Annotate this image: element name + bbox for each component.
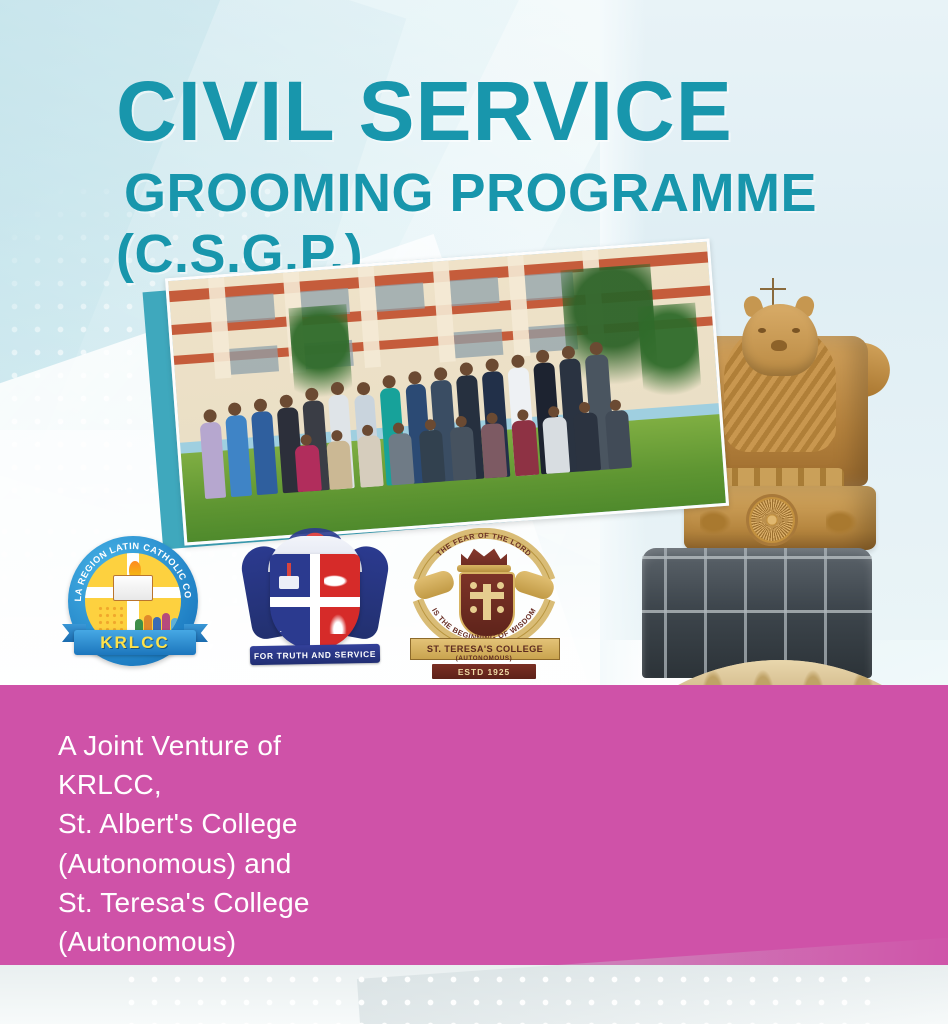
student-figure-front: [357, 435, 384, 487]
building-window-8: [454, 329, 504, 358]
book-icon: [279, 576, 299, 589]
st-teresas-autonomous-line: (AUTONOMOUS): [410, 653, 558, 664]
student-figure-front: [295, 445, 322, 493]
lion-eye-right: [792, 328, 800, 333]
st-teresas-autonomous-label: (AUTONOMOUS): [456, 655, 513, 662]
student-figure-front: [604, 410, 631, 469]
st-alberts-motto-banner: FOR TRUTH AND SERVICE: [240, 640, 390, 670]
title-line-1: CIVIL SERVICE: [116, 72, 896, 152]
st-alberts-motto-label: FOR TRUTH AND SERVICE: [250, 644, 380, 665]
glass-mullion-5: [824, 548, 827, 678]
chakra-spokes: [751, 499, 793, 541]
footer-line-5: St. Teresa's College: [58, 883, 478, 922]
student-figure: [251, 411, 278, 495]
building-window-6: [229, 345, 279, 374]
footer-line-1: A Joint Venture of: [58, 726, 478, 765]
footer-line-2: KRLCC,: [58, 765, 478, 804]
svg-text:THE FEAR OF THE LORD: THE FEAR OF THE LORD: [435, 531, 534, 558]
student-figure-front: [326, 440, 353, 490]
glass-mullion-3: [744, 548, 747, 678]
ashoka-chakra-icon: [746, 494, 798, 546]
joint-venture-text: A Joint Venture of KRLCC, St. Albert's C…: [58, 726, 478, 961]
st-alberts-shield: [270, 554, 360, 650]
glass-mullion-1: [664, 548, 667, 678]
student-figure: [200, 422, 226, 499]
candle-icon: [287, 563, 291, 576]
glass-mullion-4: [784, 548, 787, 678]
student-figure-front: [450, 426, 477, 481]
student-figure-front: [481, 423, 508, 479]
lion-nose: [771, 340, 787, 351]
footer-line-4: (Autonomous) and: [58, 844, 478, 883]
shield-ornament-2: [497, 582, 504, 589]
open-book-icon: [113, 575, 153, 601]
crown-band: [457, 565, 511, 572]
student-figure-front: [542, 416, 569, 474]
flame-icon: [328, 612, 348, 634]
building-window-1: [225, 293, 275, 322]
abacus-horse-relief: [826, 508, 860, 534]
glass-mullion-2: [704, 548, 707, 678]
st-teresas-estd-label: ESTD 1925: [458, 667, 510, 677]
student-figure-front: [388, 433, 415, 485]
group-photo: [165, 238, 729, 545]
building-window-3: [375, 282, 425, 311]
st-teresas-estd-plate: ESTD 1925: [432, 664, 536, 679]
footer-line-6: (Autonomous): [58, 922, 478, 961]
student-figure-front: [573, 413, 600, 472]
glass-tower-section: [642, 548, 872, 678]
student-figure-front: [511, 419, 538, 476]
krlcc-banner-label: KRLCC: [74, 630, 196, 655]
partner-logos: KERALA REGION LATIN CATHOLIC COUNCIL: [0, 520, 620, 685]
cross-icon-horizontal: [270, 597, 360, 607]
krlcc-banner: KRLCC: [62, 622, 208, 664]
st-alberts-logo: FOR TRUTH AND SERVICE: [240, 528, 390, 678]
krlcc-logo: KERALA REGION LATIN CATHOLIC COUNCIL: [62, 534, 208, 680]
group-photo-block: [152, 248, 714, 538]
st-teresas-logo: THE FEAR OF THE LORD IS THE BEGINNING OF…: [404, 522, 564, 687]
poster-canvas: CIVIL SERVICE GROOMING PROGRAMME (C.S.G.…: [0, 0, 948, 1024]
st-teresas-arc-top-label: THE FEAR OF THE LORD: [435, 531, 534, 558]
boat-icon: [280, 614, 302, 632]
shield-ornament-1: [470, 582, 477, 589]
title-line-2: GROOMING PROGRAMME: [124, 164, 896, 222]
glass-rail-top: [642, 556, 872, 559]
building-window-4: [450, 277, 500, 306]
student-figure: [225, 415, 252, 497]
footer-line-3: St. Albert's College: [58, 804, 478, 843]
lion-eye-left: [758, 328, 766, 333]
dove-icon: [324, 574, 350, 588]
glass-rail-mid: [642, 610, 872, 613]
student-figure-front: [419, 430, 446, 483]
